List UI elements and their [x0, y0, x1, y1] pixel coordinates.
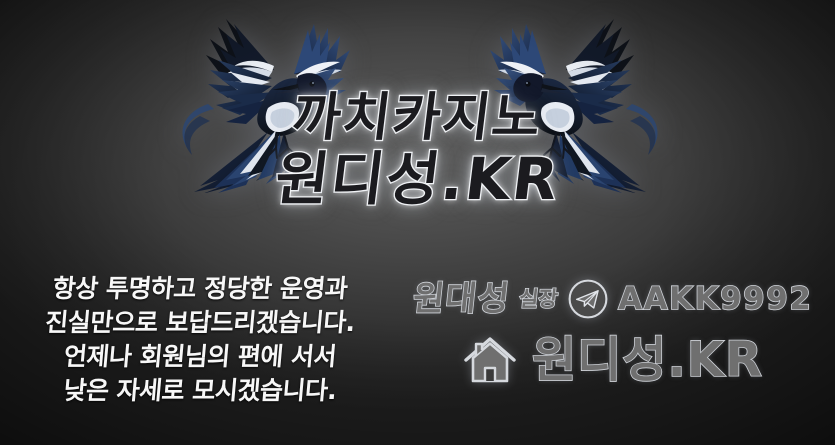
manager-title: 실장	[518, 289, 559, 310]
logo-wordmark: 까치카지노 원디성.KR	[0, 92, 835, 208]
home-icon[interactable]	[462, 334, 518, 386]
slogan-line-3: 언제나 회원님의 편에 서서	[13, 340, 388, 374]
contact-block: 원대성 실장 AAKK9992 원디성.KR	[400, 278, 825, 386]
telegram-contact-row[interactable]: 원대성 실장 AAKK9992	[400, 278, 825, 320]
site-domain[interactable]: 원디성.KR	[532, 336, 763, 384]
website-row[interactable]: 원디성.KR	[400, 334, 825, 386]
manager-name: 원대성	[411, 282, 511, 316]
slogan-block: 항상 투명하고 정당한 운영과 진실만으로 보답드리겠습니다. 언제나 회원님의…	[14, 272, 386, 408]
casino-promo-banner: 까치카지노 원디성.KR 항상 투명하고 정당한 운영과 진실만으로 보답드리겠…	[0, 0, 835, 445]
slogan-line-2: 진실만으로 보답드리겠습니다.	[13, 306, 388, 340]
logo-title-line2: 원디성.KR	[0, 150, 835, 208]
telegram-icon[interactable]	[567, 278, 609, 320]
slogan-line-4: 낮은 자세로 모시겠습니다.	[13, 374, 388, 408]
logo-title-line1: 까치카지노	[0, 92, 835, 144]
slogan-line-1: 항상 투명하고 정당한 운영과	[13, 272, 388, 306]
telegram-handle[interactable]: AAKK9992	[618, 284, 812, 315]
